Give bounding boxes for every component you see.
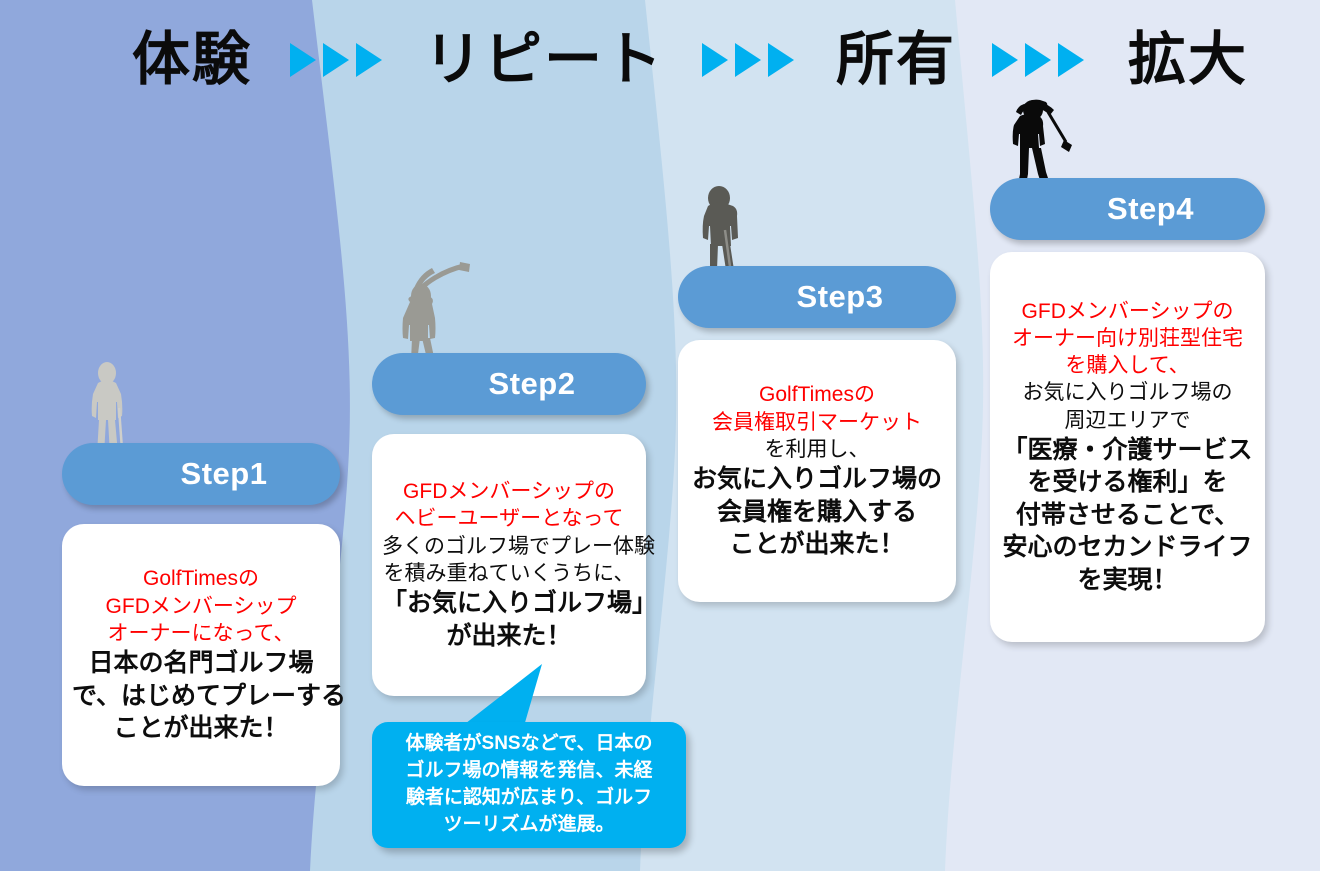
card-line: を積み重ねていくうちに、 [382,560,636,587]
triangle-right-icon [992,43,1018,77]
card-line: で、はじめてプレーする [72,680,330,713]
card-line: 周辺エリアで [1000,407,1255,434]
triangle-right-icon [356,43,382,77]
card-line: 付帯させることで、 [1000,499,1255,532]
callout-bubble: 体験者がSNSなどで、日本の ゴルフ場の情報を発信、未経 験者に認知が広まり、ゴ… [372,722,686,848]
step-card-4: GFDメンバーシップの オーナー向け別荘型住宅 を購入して、 お気に入りゴルフ場… [990,252,1265,642]
phase-arrow-1 [290,43,382,77]
card-line: GFDメンバーシップの [382,478,636,505]
callout-line: ゴルフ場の情報を発信、未経 [386,758,672,785]
triangle-right-icon [768,43,794,77]
step-pill-label: Step4 [990,191,1265,227]
card-line: を実現！ [1000,564,1255,597]
phase-label-4: 拡大 [1128,31,1248,89]
triangle-right-icon [735,43,761,77]
card-line: ヘビーユーザーとなって [382,505,636,532]
step-pill-label: Step2 [372,366,646,402]
step-pill-1[interactable]: Step1 [62,443,340,505]
card-line: を購入して、 [1000,352,1255,379]
card-line: オーナー向け別荘型住宅 [1000,325,1255,352]
card-line: 「お気に入りゴルフ場」 [382,587,636,620]
card-line: GFDメンバーシップの [1000,298,1255,325]
step-pill-2[interactable]: Step2 [372,353,646,415]
card-line: を受ける権利」を [1000,466,1255,499]
phase-label-1: 体験 [132,31,252,89]
card-line: お気に入りゴルフ場の [688,463,946,496]
card-line: 多くのゴルフ場でプレー体験 [382,533,636,560]
phase-arrow-3 [992,43,1084,77]
triangle-right-icon [290,43,316,77]
step-card-1: GolfTimesの GFDメンバーシップ オーナーになって、 日本の名門ゴルフ… [62,524,340,786]
diagram-canvas: 体験 リピート 所有 拡大 [0,0,1320,871]
triangle-right-icon [702,43,728,77]
step-card-2: GFDメンバーシップの ヘビーユーザーとなって 多くのゴルフ場でプレー体験 を積… [372,434,646,696]
callout-line: 体験者がSNSなどで、日本の [386,731,672,758]
step-card-3: GolfTimesの 会員権取引マーケット を利用し、 お気に入りゴルフ場の 会… [678,340,956,602]
card-line: 会員権取引マーケット [688,409,946,436]
card-line: GolfTimesの [688,381,946,408]
card-line: 日本の名門ゴルフ場 [72,647,330,680]
triangle-right-icon [323,43,349,77]
card-line: が出来た！ [382,620,636,653]
card-line: 安心のセカンドライフ [1000,531,1255,564]
step-pill-3[interactable]: Step3 [678,266,956,328]
step-pill-label: Step3 [678,279,956,315]
step-pill-label: Step1 [62,456,340,492]
callout-line: ツーリズムが進展。 [386,812,672,839]
callout-line: 験者に認知が広まり、ゴルフ [386,785,672,812]
phase-label-2: リピート [424,31,664,89]
card-line: ことが出来た！ [72,712,330,745]
phase-header: 体験 リピート 所有 拡大 [0,0,1320,120]
card-line: オーナーになって、 [72,620,330,647]
triangle-right-icon [1058,43,1084,77]
card-line: お気に入りゴルフ場の [1000,379,1255,406]
card-line: を利用し、 [688,436,946,463]
phase-arrow-2 [702,43,794,77]
card-line: 「医療・介護サービス [1000,434,1255,467]
step-pill-4[interactable]: Step4 [990,178,1265,240]
card-line: GolfTimesの [72,565,330,592]
card-line: ことが出来た！ [688,528,946,561]
card-line: GFDメンバーシップ [72,593,330,620]
phase-label-3: 所有 [836,31,956,89]
card-line: 会員権を購入する [688,496,946,529]
triangle-right-icon [1025,43,1051,77]
